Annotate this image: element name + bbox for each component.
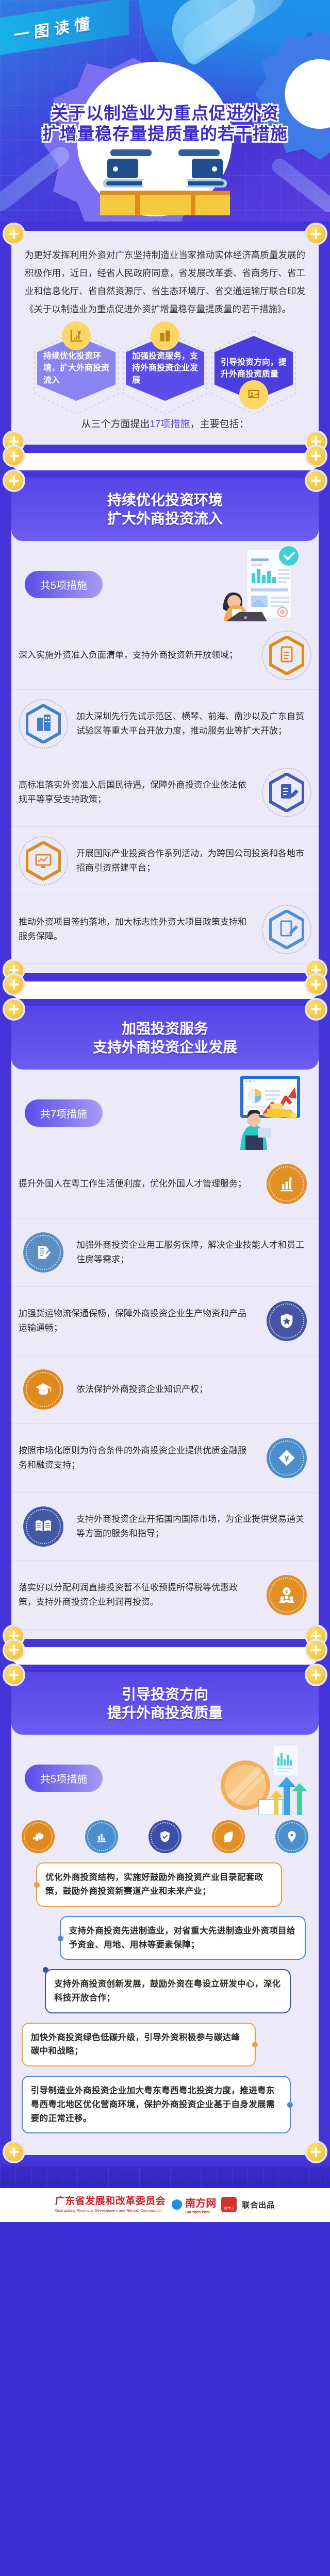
section-2-badge-row: 共7项措施 [11,1073,319,1150]
measure-row[interactable]: 按照市场化原则为符合条件的外商投资企业提供优质金融服务和融资支持； ¥ [11,1424,319,1493]
measure-row[interactable]: 加大深圳先行先试示范区、横琴、前海、南沙以及广东自贸试验区等重大平台开放力度，推… [11,690,319,758]
flow-measure-text: 支持外商投资创新发展，鼓励外资在粤设立研发中心，深化科技开放合作； [54,1979,280,2003]
measure-row[interactable]: 深入实施外资准入负面清单，支持外商投资新开放领域； [11,621,319,690]
body-wrapper: 为更好发挥利用外资对广东坚持制造业当家推动实体经济高质量发展的积极作用，近日，经… [0,231,330,2166]
measure-text: 深入实施外资准入负面清单，支持外商投资新开放领域； [19,648,254,663]
southcn-name-en: Southcn.com [185,2210,216,2214]
bolt-icon [5,2143,23,2161]
section-2-title-line-1: 加强投资服务 [20,1020,310,1038]
measure-row[interactable]: 加强外商投资企业用工服务保障，解决企业技能人才和员工住房等需求； [11,1218,319,1287]
flow-measure-2[interactable]: 支持外商投资先进制造业，对省重大先进制造业外资项目给予资金、用地、用林等要素保障… [60,1916,306,1960]
measure-row[interactable]: 推动外资项目签约落地，加大标志性外资大项目政策支持和服务保障。 [11,895,319,964]
measure-text: 加强货运物流保通保畅，保障外商投资企业生产物资和产品运输通畅； [19,1307,254,1335]
bolt-icon [307,1641,325,1659]
monitor-chart-icon [19,836,68,886]
yuan-people-icon: ¥ [262,1570,311,1620]
map-pin-icon[interactable] [275,1820,308,1853]
bolt-icon [307,975,325,994]
measure-row[interactable]: 支持外商投资企业开拓国内国际市场，为企业提供贸易通关等方面的服务和指导； [11,1493,319,1561]
bolt-icon [307,447,325,465]
measure-text: 提升外国人在粤工作生活便利度，优化外国人才管理服务； [19,1177,254,1191]
section-1-badge-row: 共5项措施 [11,544,319,621]
infographic-poster: 一图读懂 关于以制造业为重点促进外资 扩增量稳存量提质量的若干措施 为更好发挥利… [0,0,330,2222]
pillar-1-label: 持续优化投资环境，扩大外商投资流入 [43,350,109,386]
measure-text: 高标准落实外资准入后国民待遇，保障外商投资企业依法依规平等享受支持政策； [19,778,254,806]
intro-card: 为更好发挥利用外资对广东坚持制造业当家推动实体经济高质量发展的积极作用，近日，经… [11,231,319,445]
yuexuexi-label: 粤学习 [224,2206,235,2211]
section-1-title-line-2: 扩大外商投资流入 [20,510,310,528]
presentation-growth-icon [239,380,268,409]
section-1: 持续优化投资环境 扩大外商投资流入 共5项措施 [11,478,319,973]
checklist-doc-icon [262,631,311,680]
southcn-swirl-icon [171,2198,183,2211]
flow-measure-3[interactable]: 支持外商投资创新发展，鼓励外资在粤设立研发中心，深化科技开放合作； [45,1969,291,2013]
flow-measure-4[interactable]: 加快外商投资绿色低碳升级，引导外资积极参与碳达峰碳中和战略； [22,2023,256,2066]
section-1-measure-count-badge: 共5项措施 [25,571,103,598]
section-1-header: 持续优化投资环境 扩大外商投资流入 [11,478,319,541]
bolt-icon [307,1666,325,1684]
measure-text: 落实好以分配利润直接投资暂不征收预提所得税等优惠政策，支持外商投资企业利润再投资… [19,1581,254,1609]
pillar-3-label: 引导投资方向，提升外商投资质量 [221,357,287,380]
gear-icon[interactable] [22,1820,55,1853]
section-3-measure-count-badge: 共5项措施 [25,1765,103,1792]
bolt-icon [5,225,23,243]
chart-growth-icon [62,321,91,350]
measure-row[interactable]: 高标准落实外资准入后国民待遇，保障外商投资企业依法依规平等享受支持政策； [11,758,319,827]
bolt-icon [307,2143,325,2161]
title-line-2: 扩增量稳存量提质量的若干措施 [0,124,330,144]
section-2-title-line-2: 支持外商投资企业发展 [20,1038,310,1057]
summary-highlight: 17项措施 [150,419,190,430]
robot-arms-illustration [88,149,242,222]
intro-paragraph: 为更好发挥利用外资对广东坚持制造业当家推动实体经济高质量发展的积极作用，近日，经… [22,240,308,320]
pillar-2-label: 加强投资服务，支持外商投资企业发展 [132,350,198,386]
bolt-icon [307,471,325,490]
measure-row[interactable]: 提升外国人在粤工作生活便利度，优化外国人才管理服务； [11,1150,319,1218]
title-line-1: 关于以制造业为重点促进外资 [0,103,330,124]
measure-text: 加大深圳先行先试示范区、横琴、前海、南沙以及广东自贸试验区等重大平台开放力度，推… [76,709,311,738]
pillar-2[interactable]: 加强投资服务，支持外商投资企业发展 [121,329,209,401]
section-1-title-line-1: 持续优化投资环境 [20,491,310,510]
bolt-icon [5,1666,23,1684]
leaf-icon[interactable] [212,1820,245,1853]
measure-row[interactable]: 开展国际产业投资合作系列活动，为跨国公司投资和各地市招商引资搭建平台； [11,827,319,895]
measure-row[interactable]: 加强货运物流保通保畅，保障外商投资企业生产物资和产品运输通畅； [11,1287,319,1355]
flow-chip-row [19,1820,311,1853]
section-1-spacer [11,453,319,470]
ribbon-label: 一图读懂 [14,10,94,46]
section-3-badge-row: 共5项措施 [11,1738,319,1815]
southcn-name-cn: 南方网 [185,2195,216,2210]
summary-suffix: ，主要包括： [190,419,249,430]
coin-arrows-chart-icon [183,1738,311,1815]
gd-drc-name-en: Guangdong Provincial Development and Ref… [55,2208,166,2213]
southcn-logo: 南方网 Southcn.com [171,2195,216,2214]
graduation-cap-icon [19,1365,68,1414]
doc-pen-icon [262,905,311,954]
measure-text: 推动外资项目签约落地，加大标志性外资大项目政策支持和服务保障。 [19,915,254,943]
gd-drc-name-cn: 广东省发展和改革委员会 [55,2196,166,2207]
bolt-icon [5,447,23,465]
yuexuexi-logo: 粤学习 [221,2197,237,2212]
section-2-header: 加强投资服务 支持外商投资企业发展 [11,1006,319,1070]
bolt-icon [5,975,23,994]
chart-icon[interactable] [85,1820,118,1853]
flow-measure-text: 支持外商投资先进制造业，对省重大先进制造业外资项目给予资金、用地、用林等要素保障… [69,1926,295,1950]
building-icon [151,321,179,350]
man-laptop-growth-icon [183,1073,311,1150]
section-3-spacer [11,1647,319,1665]
measure-row[interactable]: 依法保护外商投资企业知识产权； [11,1355,319,1424]
yuan-diamond-icon: ¥ [262,1433,311,1483]
footer-strip [0,2166,330,2188]
section-3-flow: 优化外商投资结构，实施好鼓励外商投资产业目录配套政策，鼓励外商投资新赛道产业和未… [11,1815,319,2146]
shield-icon[interactable] [148,1820,181,1853]
section-3: 引导投资方向 提升外商投资质量 共5项措施 [11,1672,319,2156]
open-book-icon [19,1502,68,1551]
doc-edit-icon [262,768,311,817]
flow-measure-text: 加快外商投资绿色低碳升级，引导外资积极参与碳达峰碳中和战略； [31,2033,240,2056]
section-3-title-line-2: 提升外商投资质量 [20,1704,310,1722]
measure-text: 依法保护外商投资企业知识产权； [76,1382,311,1397]
hero-banner: 一图读懂 关于以制造业为重点促进外资 扩增量稳存量提质量的若干措施 [0,0,330,222]
flow-measure-text: 优化外商投资结构，实施好鼓励外商投资产业目录配套政策，鼓励外商投资新赛道产业和未… [45,1873,263,1896]
bolt-icon [5,1000,23,1019]
gd-drc-logo: 广东省发展和改革委员会 Guangdong Provincial Develop… [55,2196,166,2213]
section-2: 加强投资服务 支持外商投资企业发展 共7项措施 [11,1006,319,1639]
woman-laptop-report-icon [183,544,311,621]
summary-prefix: 从三个方面提出 [81,419,150,430]
measure-text: 加强外商投资企业用工服务保障，解决企业技能人才和员工住房等需求； [76,1238,311,1266]
measure-row[interactable]: 落实好以分配利润直接投资暂不征收预提所得税等优惠政策，支持外商投资企业利润再投资… [11,1561,319,1630]
shield-star-icon [262,1296,311,1346]
section-2-measures: 提升外国人在粤工作生活便利度，优化外国人才管理服务； 加强外商投资企业用工服务保… [11,1150,319,1630]
measure-text: 开展国际产业投资合作系列活动，为跨国公司投资和各地市招商引资搭建平台； [76,846,311,875]
bolt-icon [307,1000,325,1019]
svg-text:¥: ¥ [285,1454,289,1463]
joint-production-label: 联合出品 [242,2199,275,2210]
flow-measure-text: 引导制造业外商投资企业加大粤东粤西粤北投资力度，推进粤东粤西粤北地区优化营商环境… [31,2086,275,2123]
section-3-title-line-1: 引导投资方向 [20,1685,310,1704]
flow-measure-5[interactable]: 引导制造业外商投资企业加大粤东粤西粤北投资力度，推进粤东粤西粤北地区优化营商环境… [22,2076,291,2133]
svg-text:¥: ¥ [285,1589,288,1595]
doc-pen-icon [19,1228,68,1277]
footer: 广东省发展和改革委员会 Guangdong Provincial Develop… [0,2188,330,2222]
section-1-measures: 深入实施外资准入负面清单，支持外商投资新开放领域； 加大深圳先行先试示范区、横琴… [11,621,319,964]
pillar-3[interactable]: 引导投资方向，提升外商投资质量 [210,329,298,401]
pillars-group: 持续优化投资环境，扩大外商投资流入 加强投资服务，支持外商投资企业发展 [22,320,308,403]
flow-measure-1[interactable]: 优化外商投资结构，实施好鼓励外商投资产业目录配套政策，鼓励外商投资新赛道产业和未… [36,1862,282,1906]
section-3-header: 引导投资方向 提升外商投资质量 [11,1672,319,1735]
section-2-measure-count-badge: 共7项措施 [25,1099,103,1127]
section-2-spacer [11,981,319,999]
bolt-icon [307,225,325,243]
bar-chart-up-icon [262,1159,311,1209]
poster-title: 关于以制造业为重点促进外资 扩增量稳存量提质量的若干措施 [0,103,330,145]
bolt-icon [5,471,23,490]
pillar-1[interactable]: 持续优化投资环境，扩大外商投资流入 [32,329,120,401]
bolt-icon [5,1641,23,1659]
measure-text: 按照市场化原则为符合条件的外商投资企业提供优质金融服务和融资支持； [19,1444,254,1472]
measure-text: 支持外商投资企业开拓国内国际市场，为企业提供贸易通关等方面的服务和指导； [76,1512,311,1540]
building-icon [19,699,68,749]
